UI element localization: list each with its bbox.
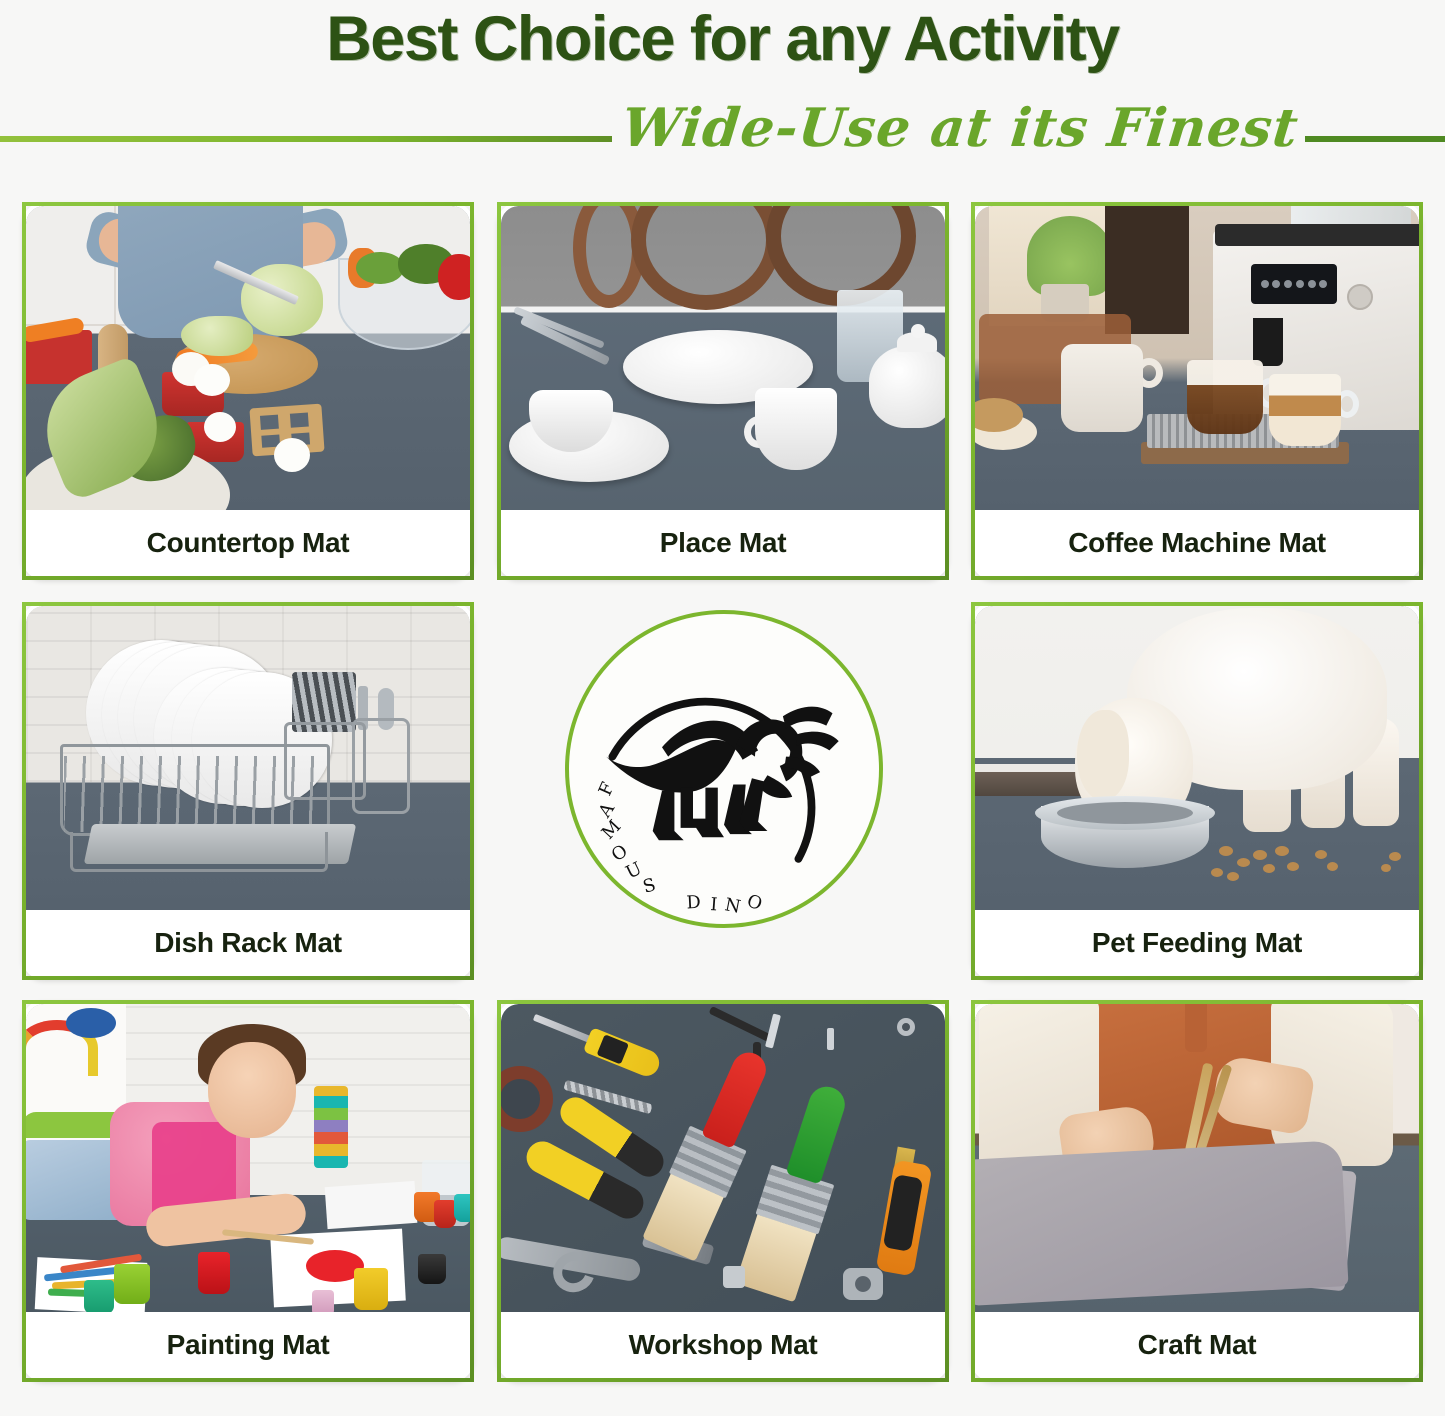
divider-line-left (0, 136, 612, 142)
card-label-place-mat: Place Mat (501, 510, 945, 576)
page-title: Best Choice for any Activity (0, 2, 1445, 76)
card-pet-feeding-mat[interactable]: Pet Feeding Mat (971, 602, 1423, 980)
card-painting-mat[interactable]: Painting Mat (22, 1000, 474, 1382)
card-image-countertop-mat (26, 206, 470, 510)
card-label-coffee-machine-mat: Coffee Machine Mat (975, 510, 1419, 576)
card-label-countertop-mat: Countertop Mat (26, 510, 470, 576)
svg-text:N: N (723, 894, 744, 918)
card-image-workshop-mat (501, 1004, 945, 1312)
card-workshop-mat[interactable]: Workshop Mat (497, 1000, 949, 1382)
card-label-pet-feeding-mat: Pet Feeding Mat (975, 910, 1419, 976)
card-label-painting-mat: Painting Mat (26, 1312, 470, 1378)
card-image-dish-rack-mat (26, 606, 470, 910)
svg-text:O: O (744, 890, 766, 915)
svg-text:I: I (710, 894, 720, 916)
card-coffee-machine-mat[interactable]: Coffee Machine Mat (971, 202, 1423, 580)
card-countertop-mat[interactable]: Countertop Mat (22, 202, 474, 580)
svg-text:M: M (598, 815, 627, 844)
card-label-dish-rack-mat: Dish Rack Mat (26, 910, 470, 976)
card-dish-rack-mat[interactable]: Dish Rack Mat (22, 602, 474, 980)
svg-text:D: D (686, 892, 703, 914)
card-craft-mat[interactable]: Craft Mat (971, 1000, 1423, 1382)
feature-grid: Countertop Mat Place Mat (0, 180, 1445, 1416)
svg-text:S: S (641, 874, 660, 898)
triceratops-icon: F A M O U S D I N O (569, 614, 879, 924)
card-image-coffee-machine-mat (975, 206, 1419, 510)
card-place-mat[interactable]: Place Mat (497, 202, 949, 580)
card-label-workshop-mat: Workshop Mat (501, 1312, 945, 1378)
card-image-pet-feeding-mat (975, 606, 1419, 910)
card-label-craft-mat: Craft Mat (975, 1312, 1419, 1378)
brand-logo: F A M O U S D I N O (565, 610, 883, 928)
logo-ring: F A M O U S D I N O (565, 610, 883, 928)
svg-text:F: F (595, 778, 620, 799)
page-header: Best Choice for any Activity Wide-Use at… (0, 0, 1445, 180)
page-subtitle: Wide-Use at its Finest (606, 90, 1314, 170)
card-image-craft-mat (975, 1004, 1419, 1312)
card-image-painting-mat (26, 1004, 470, 1312)
card-image-place-mat (501, 206, 945, 510)
divider-line-right (1305, 136, 1445, 142)
